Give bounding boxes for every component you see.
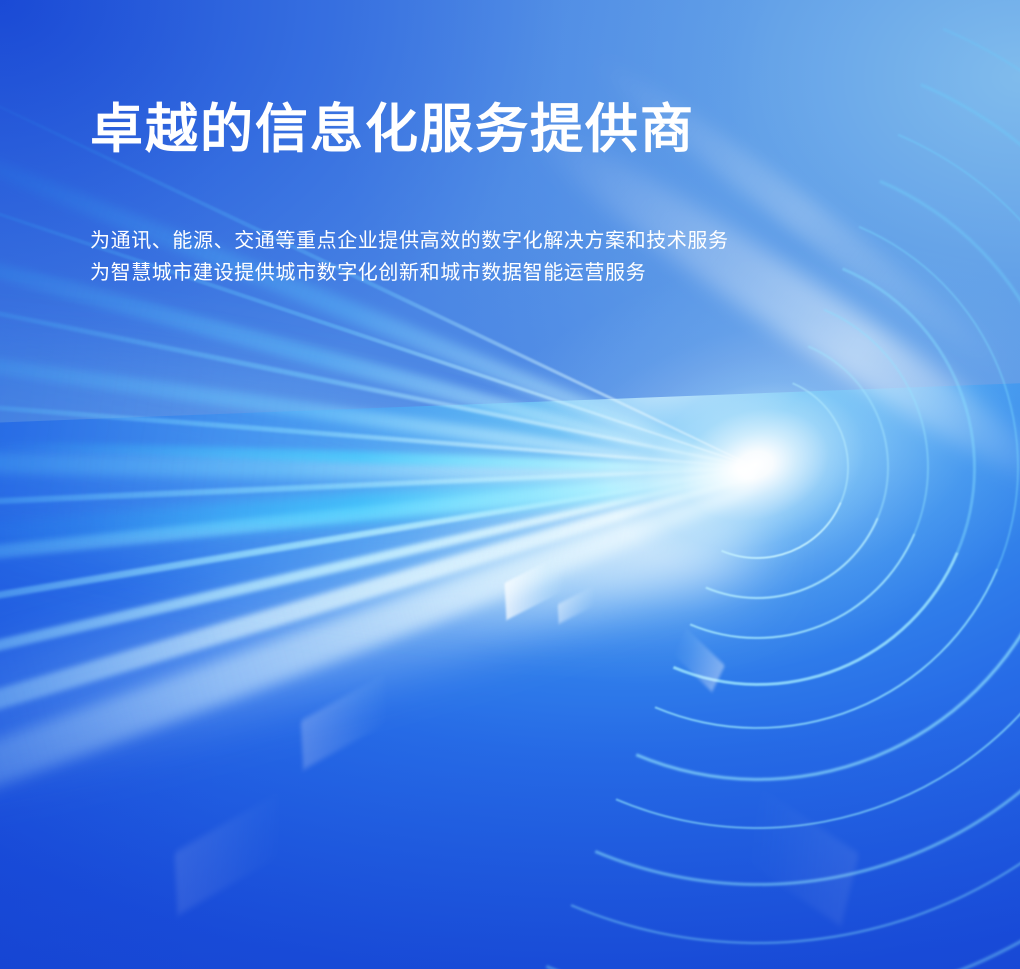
subtitle-line-1: 为通讯、能源、交通等重点企业提供高效的数字化解决方案和技术服务 bbox=[90, 225, 729, 257]
light-ray bbox=[0, 371, 755, 470]
chevron-highlight-icon bbox=[505, 554, 564, 620]
secondary-light-beam bbox=[0, 232, 772, 663]
primary-light-beam bbox=[0, 467, 769, 946]
light-arc bbox=[637, 347, 877, 587]
chevron-highlight-icon bbox=[301, 674, 388, 769]
ground-plane-layer bbox=[0, 379, 1020, 969]
light-ray bbox=[0, 304, 756, 481]
chevron-highlight-icon bbox=[558, 586, 595, 624]
light-ray bbox=[0, 443, 755, 487]
hero-banner: 卓越的信息化服务提供商 为通讯、能源、交通等重点企业提供高效的数字化解决方案和技… bbox=[0, 0, 1020, 969]
light-ray bbox=[0, 466, 762, 969]
vanishing-point-glow bbox=[546, 291, 964, 640]
cyan-core-streak bbox=[0, 465, 756, 558]
light-ray bbox=[0, 466, 758, 897]
chevron-highlight-icon bbox=[673, 628, 725, 692]
light-ray bbox=[0, 465, 755, 527]
hero-subtitle: 为通讯、能源、交通等重点企业提供高效的数字化解决方案和技术服务 为智慧城市建设提… bbox=[90, 159, 729, 289]
light-ray bbox=[0, 465, 756, 617]
light-arc bbox=[533, 243, 981, 691]
light-ray bbox=[0, 465, 755, 695]
subtitle-line-2: 为智慧城市建设提供城市数字化创新和城市数据智能运营服务 bbox=[90, 257, 729, 289]
light-ray bbox=[0, 465, 756, 791]
chevron-highlight-icon bbox=[174, 793, 281, 916]
cyan-core-streak bbox=[0, 436, 755, 477]
page-title: 卓越的信息化服务提供商 bbox=[90, 100, 729, 159]
chevron-highlight-icon bbox=[743, 788, 859, 926]
light-arc bbox=[585, 295, 929, 639]
hero-copy: 卓越的信息化服务提供商 为通讯、能源、交通等重点企业提供高效的数字化解决方案和技… bbox=[90, 100, 729, 289]
